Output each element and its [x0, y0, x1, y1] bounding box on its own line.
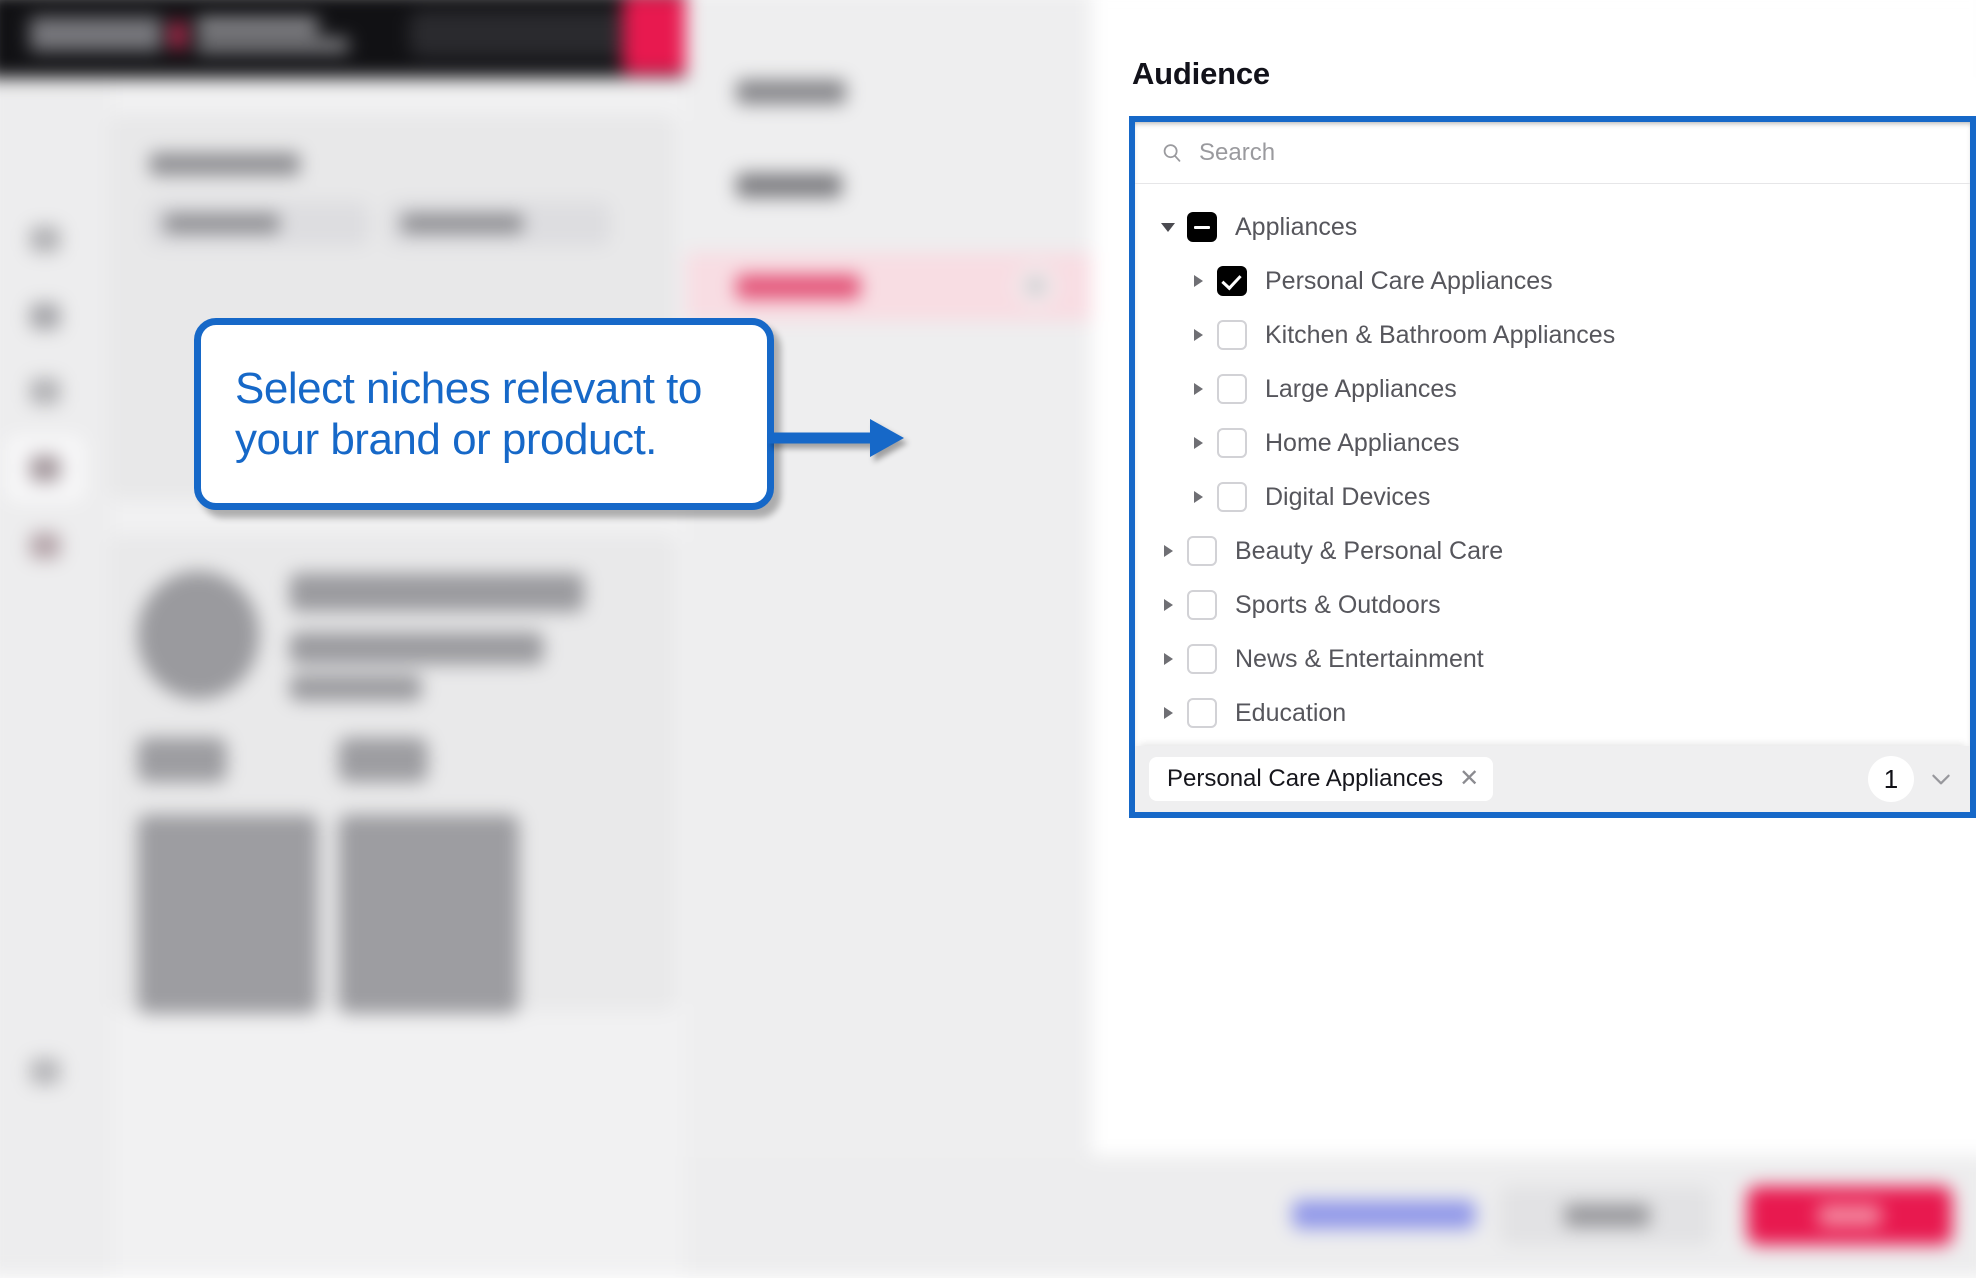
filter-nav-item-audience-badge-inner	[1027, 277, 1045, 295]
selection-count-badge: 1	[1868, 756, 1914, 802]
checkbox-unchecked[interactable]	[1217, 482, 1247, 512]
caret-right-glyph	[1164, 545, 1173, 557]
tree-row[interactable]: Beauty & Personal Care	[1135, 524, 1970, 578]
audience-section: Audience	[1130, 56, 1940, 118]
reset-filters-button[interactable]	[1293, 1200, 1476, 1228]
skeleton-tile-2	[338, 815, 519, 1014]
sidebar-item-5-icon[interactable]	[30, 533, 60, 559]
caret-right-icon[interactable]	[1157, 648, 1179, 670]
tree-row[interactable]: Kitchen & Bathroom Appliances	[1135, 308, 1970, 362]
caret-right-icon[interactable]	[1187, 324, 1209, 346]
skeleton-line-3	[290, 675, 422, 701]
checkbox-unchecked[interactable]	[1187, 536, 1217, 566]
caret-right-icon[interactable]	[1187, 270, 1209, 292]
logo-subtitle-line-2	[196, 38, 348, 52]
filter-location-label	[164, 214, 280, 233]
checkbox-unchecked[interactable]	[1187, 644, 1217, 674]
instruction-callout: Select niches relevant to your brand or …	[194, 318, 774, 510]
search-placeholder: Search	[1199, 139, 1275, 167]
filter-nav-item-audience-label	[736, 275, 860, 299]
caret-down-icon[interactable]	[1157, 216, 1179, 238]
avatar	[137, 571, 259, 699]
checkbox-indeterminate[interactable]	[1187, 212, 1217, 242]
tree-row-label: Kitchen & Bathroom Appliances	[1265, 321, 1615, 350]
logo-divider	[171, 21, 185, 49]
filter-categories-label	[401, 214, 523, 233]
checkbox-unchecked[interactable]	[1217, 320, 1247, 350]
tree-row[interactable]: Personal Care Appliances	[1135, 254, 1970, 308]
selected-chip-label: Personal Care Appliances	[1167, 765, 1443, 793]
caret-right-glyph	[1194, 275, 1203, 287]
caret-right-icon[interactable]	[1187, 432, 1209, 454]
tree-row-label: Education	[1235, 699, 1346, 728]
filter-nav-item-creator[interactable]	[736, 173, 842, 197]
tree-row[interactable]: News & Entertainment	[1135, 632, 1970, 686]
sidebar-item-4-icon[interactable]	[30, 455, 60, 481]
tree-row-label: Sports & Outdoors	[1235, 591, 1441, 620]
tree-row[interactable]: Sports & Outdoors	[1135, 578, 1970, 632]
sidebar-item-1-icon[interactable]	[30, 226, 60, 252]
caret-right-glyph	[1164, 653, 1173, 665]
caret-right-icon[interactable]	[1187, 486, 1209, 508]
tree-row[interactable]: Home Appliances	[1135, 416, 1970, 470]
instruction-callout-text: Select niches relevant to your brand or …	[235, 363, 733, 465]
caret-right-icon[interactable]	[1187, 378, 1209, 400]
caret-right-icon[interactable]	[1157, 702, 1179, 724]
sidebar-item-2-icon[interactable]	[30, 303, 60, 329]
tree-row-label: Personal Care Appliances	[1265, 267, 1553, 296]
tree-row[interactable]: Digital Devices	[1135, 470, 1970, 524]
caret-right-glyph	[1194, 491, 1203, 503]
skeleton-chip-1	[137, 738, 226, 783]
caret-down-glyph	[1161, 223, 1175, 232]
app-sidebar	[0, 78, 113, 1278]
skeleton-line-1	[290, 573, 584, 612]
tiktok-logo	[30, 17, 162, 52]
sidebar-item-3-icon[interactable]	[30, 378, 60, 404]
caret-right-glyph	[1164, 707, 1173, 719]
skeleton-chip-2	[338, 738, 427, 783]
caret-right-glyph	[1194, 383, 1203, 395]
chevron-down-icon[interactable]	[1928, 766, 1954, 792]
tree-row[interactable]: Education	[1135, 686, 1970, 740]
skeleton-tile-1	[137, 815, 318, 1014]
tree-row-label: Large Appliances	[1265, 375, 1457, 404]
filter-card-title	[150, 153, 300, 175]
tree-row-label: Appliances	[1235, 213, 1357, 242]
logo-subtitle-line-1	[196, 18, 318, 33]
sidebar-bottom-icon[interactable]	[30, 1058, 60, 1084]
filter-by-heading	[736, 80, 846, 104]
selected-chip[interactable]: Personal Care Appliances ✕	[1149, 757, 1493, 801]
search-input[interactable]: Search	[1135, 122, 1970, 184]
apply-button-label	[1818, 1204, 1881, 1226]
tree-row[interactable]: Large Appliances	[1135, 362, 1970, 416]
checkbox-unchecked[interactable]	[1187, 698, 1217, 728]
audience-picker-panel: Search AppliancesPersonal Care Appliance…	[1135, 122, 1970, 812]
caret-right-glyph	[1194, 329, 1203, 341]
tree-row-label: Home Appliances	[1265, 429, 1460, 458]
caret-right-icon[interactable]	[1157, 540, 1179, 562]
arrow-right-icon	[766, 408, 908, 468]
tree-row-label: Beauty & Personal Care	[1235, 537, 1503, 566]
checkbox-unchecked[interactable]	[1217, 374, 1247, 404]
audience-category-tree: AppliancesPersonal Care AppliancesKitche…	[1135, 184, 1970, 794]
skeleton-line-2	[290, 632, 544, 664]
checkbox-unchecked[interactable]	[1187, 590, 1217, 620]
tree-row[interactable]: Appliances	[1135, 200, 1970, 254]
close-icon[interactable]: ✕	[1459, 767, 1479, 791]
caret-right-glyph	[1164, 599, 1173, 611]
checkbox-unchecked[interactable]	[1217, 428, 1247, 458]
caret-right-icon[interactable]	[1157, 594, 1179, 616]
cancel-button-label	[1565, 1204, 1650, 1226]
selection-bar: Personal Care Appliances ✕ 1	[1135, 746, 1970, 812]
checkbox-checked[interactable]	[1217, 266, 1247, 296]
page-title: Audience	[1132, 56, 1940, 92]
caret-right-glyph	[1194, 437, 1203, 449]
tree-row-label: Digital Devices	[1265, 483, 1430, 512]
tree-row-label: News & Entertainment	[1235, 645, 1484, 674]
search-icon	[1161, 142, 1183, 164]
